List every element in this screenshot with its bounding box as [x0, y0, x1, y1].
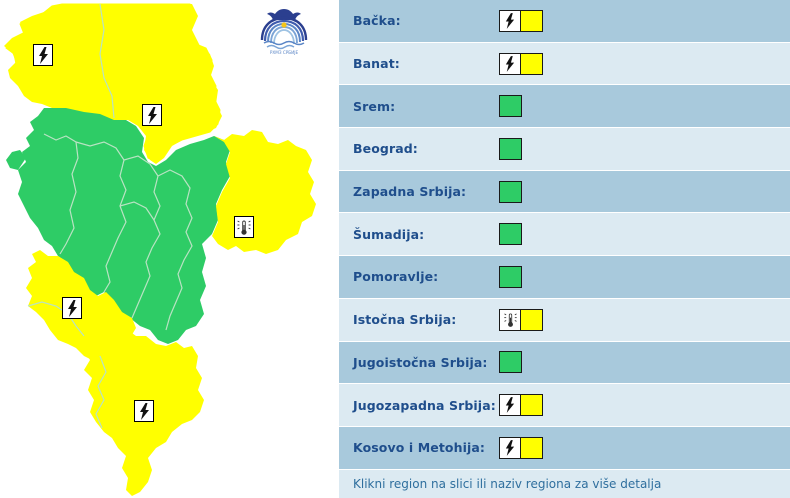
- region-row-jugoistocna-srbija[interactable]: Jugoistočna Srbija:: [339, 342, 790, 385]
- map-marker-thunderstorm-icon[interactable]: [33, 44, 53, 66]
- region-row-pomoravlje[interactable]: Pomoravlje:: [339, 256, 790, 299]
- serbia-warning-map[interactable]: РХМЗ СРБИЈЕ: [0, 0, 336, 498]
- region-warning-badge[interactable]: [499, 351, 522, 373]
- region-warning-badge[interactable]: [499, 437, 543, 459]
- map-marker-high-temperature-icon[interactable]: [234, 216, 254, 238]
- warning-level-green: [500, 182, 521, 202]
- region-warning-list: Bačka: Banat:: [336, 0, 790, 498]
- region-label[interactable]: Beograd:: [353, 141, 499, 156]
- warning-level-green: [500, 96, 521, 116]
- region-row-beograd[interactable]: Beograd:: [339, 128, 790, 171]
- region-row-kosovo-i-metohija[interactable]: Kosovo i Metohija:: [339, 427, 790, 470]
- thunderstorm-icon: [500, 395, 521, 415]
- map-hint-text: Klikni region na slici ili naziv regiona…: [353, 477, 661, 491]
- region-warning-badge[interactable]: [499, 309, 543, 331]
- region-row-srem[interactable]: Srem:: [339, 85, 790, 128]
- region-row-backa[interactable]: Bačka:: [339, 0, 790, 43]
- region-warning-badge[interactable]: [499, 53, 543, 75]
- map-marker-thunderstorm-icon[interactable]: [134, 400, 154, 422]
- region-warning-badge[interactable]: [499, 223, 522, 245]
- region-warning-badge[interactable]: [499, 138, 522, 160]
- region-label[interactable]: Šumadija:: [353, 227, 499, 242]
- region-row-istocna-srbija[interactable]: Istočna Srbija:: [339, 299, 790, 342]
- high-temperature-icon: [500, 310, 521, 330]
- serbia-map-svg[interactable]: [0, 0, 336, 498]
- region-row-jugozapadna-srbija[interactable]: Jugozapadna Srbija:: [339, 384, 790, 427]
- warning-level-green: [500, 267, 521, 287]
- region-row-banat[interactable]: Banat:: [339, 43, 790, 86]
- region-warning-badge[interactable]: [499, 394, 543, 416]
- warning-level-green: [500, 139, 521, 159]
- warning-level-green: [500, 224, 521, 244]
- warning-level-yellow: [521, 438, 542, 458]
- map-marker-thunderstorm-icon[interactable]: [142, 104, 162, 126]
- meteo-alarm-page: РХМЗ СРБИЈЕ: [0, 0, 790, 498]
- region-label[interactable]: Zapadna Srbija:: [353, 184, 499, 199]
- warning-level-yellow: [521, 310, 542, 330]
- region-row-zapadna-srbija[interactable]: Zapadna Srbija:: [339, 171, 790, 214]
- warning-level-yellow: [521, 11, 542, 31]
- thunderstorm-icon: [500, 11, 521, 31]
- thunderstorm-icon: [500, 438, 521, 458]
- region-label[interactable]: Jugozapadna Srbija:: [353, 398, 499, 413]
- region-warning-badge[interactable]: [499, 95, 522, 117]
- region-label[interactable]: Banat:: [353, 56, 499, 71]
- region-warning-badge[interactable]: [499, 10, 543, 32]
- region-warning-badge[interactable]: [499, 181, 522, 203]
- warning-level-yellow: [521, 395, 542, 415]
- warning-level-yellow: [521, 54, 542, 74]
- rhmz-srbije-logo: РХМЗ СРБИЈЕ: [258, 4, 310, 56]
- map-marker-thunderstorm-icon[interactable]: [62, 297, 82, 319]
- thunderstorm-icon: [500, 54, 521, 74]
- region-label[interactable]: Kosovo i Metohija:: [353, 440, 499, 455]
- region-row-sumadija[interactable]: Šumadija:: [339, 213, 790, 256]
- region-label[interactable]: Srem:: [353, 99, 499, 114]
- region-label[interactable]: Istočna Srbija:: [353, 312, 499, 327]
- region-label[interactable]: Jugoistočna Srbija:: [353, 355, 499, 370]
- region-label[interactable]: Bačka:: [353, 13, 499, 28]
- region-label[interactable]: Pomoravlje:: [353, 269, 499, 284]
- warning-level-green: [500, 352, 521, 372]
- region-warning-badge[interactable]: [499, 266, 522, 288]
- logo-caption: РХМЗ СРБИЈЕ: [270, 50, 299, 55]
- map-hint-row: Klikni region na slici ili naziv regiona…: [339, 470, 790, 498]
